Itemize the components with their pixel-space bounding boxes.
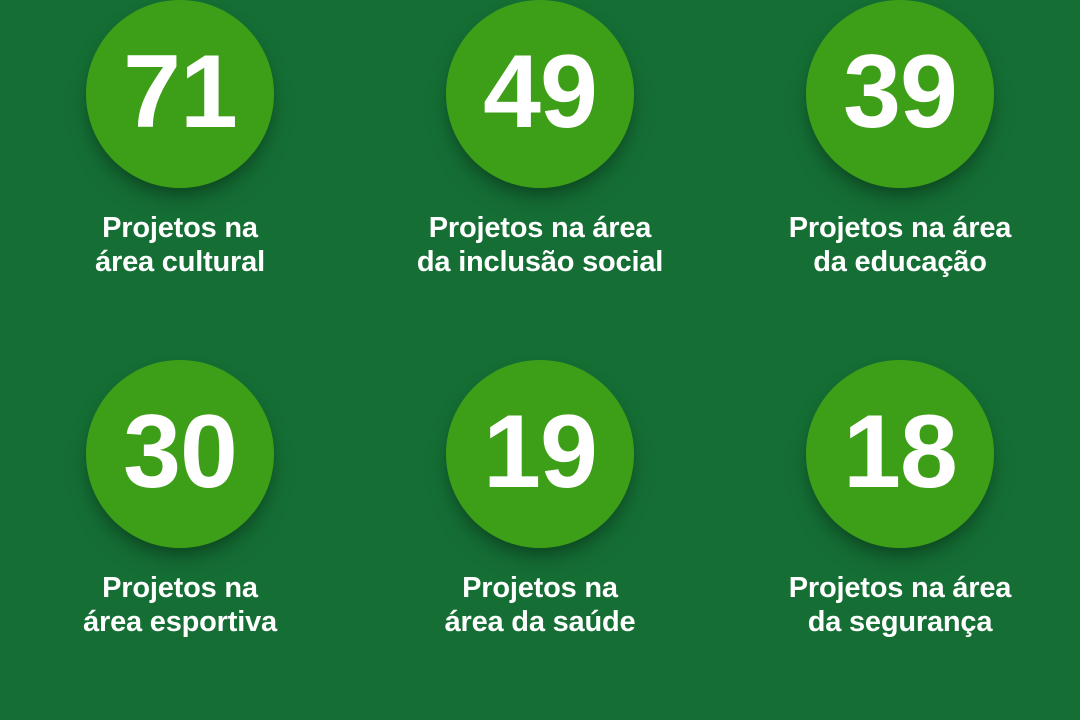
stat-caption-line-1: Projetos na área — [417, 212, 663, 246]
stat-caption-line-1: Projetos na área — [789, 212, 1011, 246]
stat-caption-line-1: Projetos na — [95, 212, 265, 246]
stat-card: 18 Projetos na área da segurança — [727, 360, 1073, 720]
stat-card: 30 Projetos na área esportiva — [7, 360, 353, 720]
stat-caption-line-2: área da saúde — [445, 606, 636, 640]
stat-caption-line-2: da inclusão social — [417, 246, 663, 280]
stats-infographic: 71 Projetos na área cultural 49 Projetos… — [0, 0, 1080, 720]
stat-value: 30 — [123, 400, 237, 504]
stat-caption: Projetos na área esportiva — [83, 572, 277, 639]
stat-circle: 30 — [86, 360, 274, 548]
stat-value: 18 — [843, 400, 957, 504]
stat-circle: 18 — [806, 360, 994, 548]
stat-caption-line-2: área cultural — [95, 246, 265, 280]
stat-caption-line-2: área esportiva — [83, 606, 277, 640]
stat-circle: 19 — [446, 360, 634, 548]
stat-caption-line-2: da segurança — [789, 606, 1011, 640]
stat-value: 71 — [123, 40, 237, 144]
stat-circle: 71 — [86, 0, 274, 188]
stat-caption: Projetos na área da saúde — [445, 572, 636, 639]
stat-caption-line-1: Projetos na — [83, 572, 277, 606]
stat-card: 39 Projetos na área da educação — [727, 0, 1073, 360]
stat-caption: Projetos na área da educação — [789, 212, 1011, 279]
stat-caption: Projetos na área da inclusão social — [417, 212, 663, 279]
stat-caption-line-1: Projetos na — [445, 572, 636, 606]
stat-caption: Projetos na área cultural — [95, 212, 265, 279]
stats-grid: 71 Projetos na área cultural 49 Projetos… — [0, 0, 1080, 720]
stat-caption-line-1: Projetos na área — [789, 572, 1011, 606]
stat-card: 19 Projetos na área da saúde — [367, 360, 713, 720]
stat-value: 49 — [483, 40, 597, 144]
stat-value: 19 — [483, 400, 597, 504]
stat-circle: 39 — [806, 0, 994, 188]
stat-card: 49 Projetos na área da inclusão social — [367, 0, 713, 360]
stat-caption: Projetos na área da segurança — [789, 572, 1011, 639]
stat-card: 71 Projetos na área cultural — [7, 0, 353, 360]
stat-circle: 49 — [446, 0, 634, 188]
stat-caption-line-2: da educação — [789, 246, 1011, 280]
stat-value: 39 — [843, 40, 957, 144]
